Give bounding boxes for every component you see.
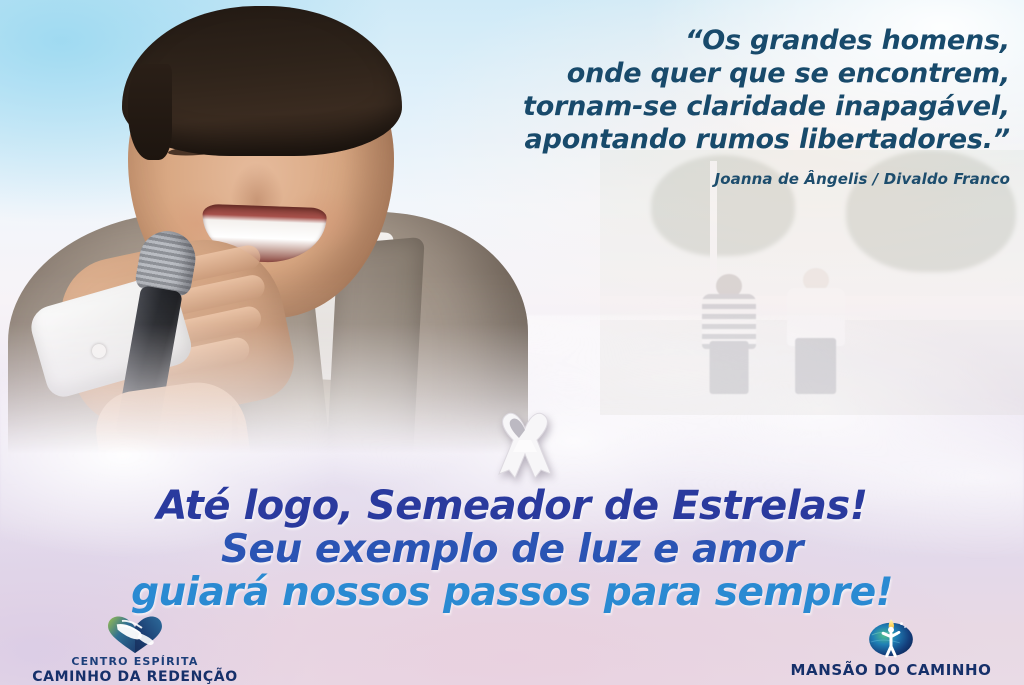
background-photo-person-legs: [795, 338, 837, 393]
logo-centro-espirita-caminho-da-redencao: CENTRO ESPÍRITA CAMINHO DA REDENÇÃO: [10, 614, 260, 685]
quote-attribution: Joanna de Ângelis / Divaldo Franco: [430, 170, 1010, 188]
background-photo-two-people-walking: [600, 150, 1024, 415]
logo-left-line-2: CAMINHO DA REDENÇÃO: [10, 669, 260, 685]
hands-heart-logo-icon: [104, 614, 166, 654]
quote-block: “Os grandes homens, onde quer que se enc…: [430, 24, 1010, 188]
quote-line-1: “Os grandes homens,: [430, 24, 1010, 57]
portrait-cuff-button: [92, 344, 106, 358]
mourning-ribbon-icon: [489, 408, 561, 486]
background-photo-person-striped: [702, 274, 756, 394]
headline-block: Até logo, Semeador de Estrelas! Seu exem…: [0, 484, 1024, 614]
quote-line-3: tornam-se claridade inapagável,: [430, 90, 1010, 123]
headline-line-3: guiará nossos passos para sempre!: [0, 571, 1024, 614]
globe-figure-flame-logo-icon: [863, 612, 919, 658]
portrait-hair: [122, 6, 402, 156]
background-photo-person-legs: [709, 341, 748, 394]
logo-right-line-1: MANSÃO DO CAMINHO: [766, 661, 1016, 679]
headline-line-2: Seu exemplo de luz e amor: [0, 528, 1024, 571]
logo-left-line-1: CENTRO ESPÍRITA: [10, 655, 260, 668]
logo-mansao-do-caminho: MANSÃO DO CAMINHO: [766, 612, 1016, 679]
background-photo-person-torso: [787, 288, 845, 346]
headline-line-1: Até logo, Semeador de Estrelas!: [0, 484, 1024, 528]
background-photo-person-white-shirt: [787, 268, 845, 394]
quote-line-2: onde quer que se encontrem,: [430, 57, 1010, 90]
quote-line-4: apontando rumos libertadores.”: [430, 123, 1010, 156]
memorial-poster: “Os grandes homens, onde quer que se enc…: [0, 0, 1024, 685]
